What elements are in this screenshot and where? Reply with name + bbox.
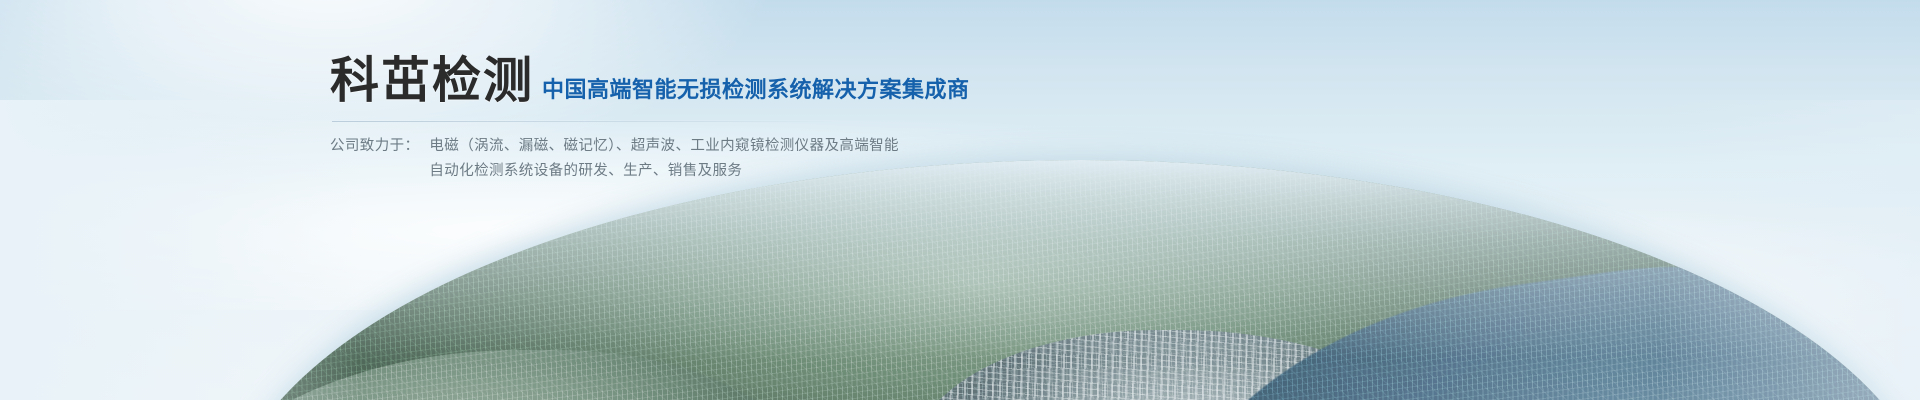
company-description: 公司致力于： 电磁（涡流、漏磁、磁记忆）、超声波、工业内窥镜检测仪器及高端智能 …	[330, 134, 970, 185]
left-edge-fade	[0, 100, 360, 400]
banner-text-block: 科茁检测 中国高端智能无损检测系统解决方案集成商 公司致力于： 电磁（涡流、漏磁…	[330, 56, 970, 185]
description-line-2: 自动化检测系统设备的研发、生产、销售及服务	[429, 159, 899, 184]
hero-banner: 科茁检测 中国高端智能无损检测系统解决方案集成商 公司致力于： 电磁（涡流、漏磁…	[0, 0, 1920, 400]
brand-title-row: 科茁检测 中国高端智能无损检测系统解决方案集成商	[330, 56, 970, 105]
company-name: 科茁检测	[330, 56, 534, 105]
description-lines: 电磁（涡流、漏磁、磁记忆）、超声波、工业内窥镜检测仪器及高端智能 自动化检测系统…	[429, 134, 899, 185]
text-divider	[332, 121, 837, 122]
right-edge-fade	[1660, 100, 1920, 400]
description-label: 公司致力于：	[330, 134, 429, 159]
description-line-1: 电磁（涡流、漏磁、磁记忆）、超声波、工业内窥镜检测仪器及高端智能	[429, 134, 899, 159]
brand-tagline: 中国高端智能无损检测系统解决方案集成商	[542, 80, 970, 105]
